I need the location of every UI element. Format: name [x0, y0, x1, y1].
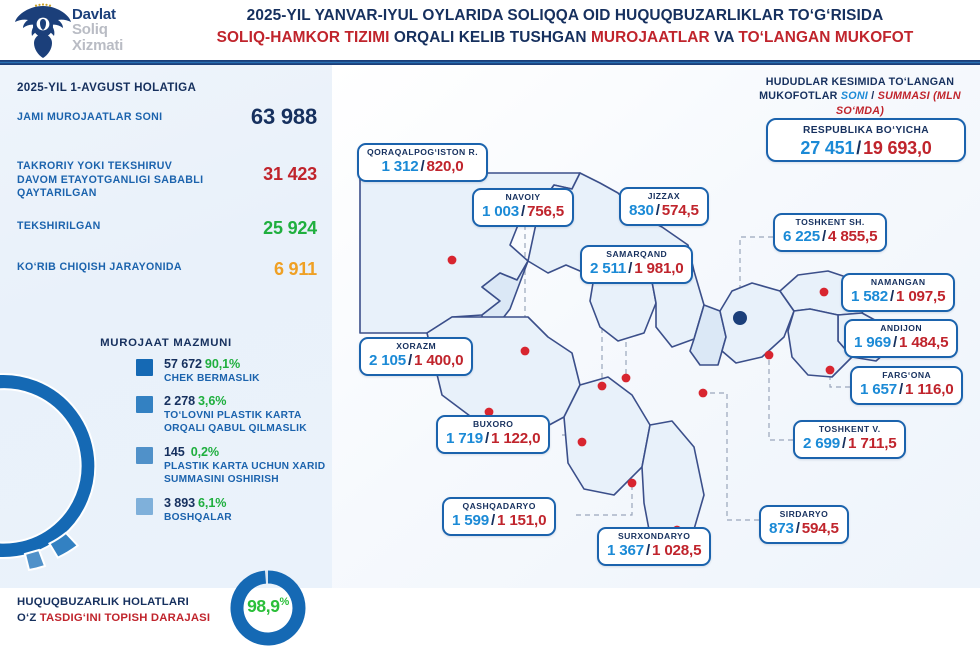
- breakdown-legend: 57 67290,1% CHEK BERMASLIK 2 2783,6% TO‘…: [136, 357, 332, 534]
- dot-qoraqalpogiston: [448, 256, 457, 265]
- stat-row-inprogress: KO‘RIB CHIQISH JARAYONIDA 6 911: [17, 261, 317, 275]
- confirm-seg-oz: O‘Z: [17, 612, 40, 624]
- legend-nums-3: 3 8936,1%: [164, 496, 332, 510]
- callout-andijon[interactable]: ANDIJON 1 969/1 484,5: [844, 319, 958, 358]
- callout-count-qoraqalpogiston: 1 312: [381, 158, 418, 175]
- title-tolangan-mukofot: TO‘LANGAN MUKOFOT: [738, 29, 913, 46]
- dot-fargona: [826, 366, 835, 375]
- stat-row-total: JAMI MUROJAATLAR SONI 63 988: [17, 111, 317, 125]
- callout-name-xorazm: XORAZM: [369, 342, 463, 352]
- donut-slice-chek-bermaslik: [0, 365, 104, 567]
- legend-pct-2: 0,2%: [191, 445, 219, 459]
- callout-count-samarqand: 2 511: [590, 260, 626, 277]
- callout-count-andijon: 1 969: [854, 334, 891, 351]
- callout-count-jizzax: 830: [629, 202, 654, 219]
- stat-value-inprogress: 6 911: [274, 259, 317, 280]
- callout-count-qashqadaryo: 1 599: [452, 512, 489, 529]
- sep-11: /: [491, 512, 495, 529]
- callout-values-namangan: 1 582/1 097,5: [851, 288, 945, 306]
- murojaat-mazmuni-donut: [0, 351, 118, 581]
- title-seg-d: VA: [710, 29, 739, 46]
- dot-sirdaryo: [699, 389, 708, 398]
- callout-values-andijon: 1 969/1 484,5: [854, 334, 948, 352]
- donut-slice-xarid-oshirish: [25, 550, 45, 570]
- sep-8: /: [408, 352, 412, 369]
- dot-toshkent-viloyati: [765, 351, 774, 360]
- gauge-number: 98,9: [247, 596, 279, 616]
- breakdown-title: MUROJAAT MAZMUNI: [0, 337, 332, 349]
- sep-12: /: [646, 542, 650, 559]
- logo-line-1: Davlat: [72, 7, 123, 22]
- confirmation-rate-label: HUQUQBUZARLIK HOLATLARI O‘Z TASDIG‘INI T…: [17, 594, 222, 626]
- callout-sum-samarqand: 1 981,0: [634, 260, 683, 277]
- callout-values-qoraqalpogiston: 1 312/820,0: [367, 158, 478, 176]
- sep-3: /: [628, 260, 632, 277]
- legend-pct-1: 3,6%: [198, 394, 226, 408]
- callout-name-namangan: NAMANGAN: [851, 278, 945, 288]
- callout-jizzax[interactable]: JIZZAX 830/574,5: [619, 187, 709, 226]
- callout-xorazm[interactable]: XORAZM 2 105/1 400,0: [359, 337, 473, 376]
- stat-label-total: JAMI MUROJAATLAR SONI: [17, 111, 209, 125]
- callout-sum-toshkent-viloyati: 1 711,5: [848, 435, 896, 452]
- legend-nums-1: 2 2783,6%: [164, 394, 332, 408]
- callout-count-buxoro: 1 719: [446, 430, 483, 447]
- legend-item-3: 3 8936,1% BOSHQALAR: [136, 496, 332, 524]
- callout-count-fargona: 1 657: [860, 381, 897, 398]
- title-seg-b: ORQALI KELIB TUSHGAN: [390, 29, 591, 46]
- callout-count-surxondaryo: 1 367: [607, 542, 644, 559]
- callout-sum-buxoro: 1 122,0: [491, 430, 540, 447]
- callout-count-xorazm: 2 105: [369, 352, 406, 369]
- logo-line-2: Soliq: [72, 22, 123, 37]
- dot-navoiy: [521, 347, 530, 356]
- map-panel: HUDUDLAR KESIMIDA TO‘LANGAN MUKOFOTLAR S…: [332, 65, 980, 588]
- title-line-2: SOLIQ-HAMKOR TIZIMI ORQALI KELIB TUSHGAN…: [160, 27, 970, 49]
- legend-nums-0: 57 67290,1%: [164, 357, 332, 371]
- logo: Davlat Soliq Xizmati: [8, 2, 158, 60]
- callout-values-jizzax: 830/574,5: [629, 202, 699, 220]
- dot-buxoro: [578, 438, 587, 447]
- legend-pct-0: 90,1%: [205, 357, 240, 371]
- callout-name-buxoro: BUXORO: [446, 420, 540, 430]
- page-title: 2025-YIL YANVAR-IYUL OYLARIDA SOLIQQA OI…: [160, 5, 970, 50]
- legend-desc-2: PLASTIK KARTA UCHUN XARID SUMMASINI OSHI…: [164, 461, 332, 486]
- callout-sum-xorazm: 1 400,0: [414, 352, 463, 369]
- callout-values-samarqand: 2 511/1 981,0: [590, 260, 683, 278]
- callout-values-buxoro: 1 719/1 122,0: [446, 430, 540, 448]
- callout-values-fargona: 1 657/1 116,0: [860, 381, 953, 399]
- callout-sum-qoraqalpogiston: 820,0: [427, 158, 464, 175]
- callout-name-jizzax: JIZZAX: [629, 192, 699, 202]
- logo-text: Davlat Soliq Xizmati: [72, 7, 123, 53]
- stat-row-returned: TAKRORIY YOKI TEKSHIRUV DAVOM ETAYOTGANL…: [17, 160, 317, 201]
- confirmation-rate-line2: O‘Z TASDIG‘INI TOPISH DARAJASI: [17, 610, 222, 626]
- legend-item-2: 1450,2% PLASTIK KARTA UCHUN XARID SUMMAS…: [136, 445, 332, 486]
- callout-name-navoiy: NAVOIY: [482, 193, 564, 203]
- callout-count-namangan: 1 582: [851, 288, 888, 305]
- callout-samarqand[interactable]: SAMARQAND 2 511/1 981,0: [580, 245, 693, 284]
- callout-name-toshkent-shahri: TOSHKENT SH.: [783, 218, 877, 228]
- legend-item-1: 2 2783,6% TO‘LOVNI PLASTIK KARTA ORQALI …: [136, 394, 332, 435]
- legend-pct-3: 6,1%: [198, 496, 226, 510]
- callout-count-toshkent-viloyati: 2 699: [803, 435, 840, 452]
- legend-desc-0: CHEK BERMASLIK: [164, 373, 332, 385]
- callout-count-toshkent-shahri: 6 225: [783, 228, 820, 245]
- legend-desc-1: TO‘LOVNI PLASTIK KARTA ORQALI QABUL QILM…: [164, 410, 332, 435]
- legend-swatch-1: [136, 396, 153, 413]
- callout-sum-surxondaryo: 1 028,5: [652, 542, 701, 559]
- callout-values-sirdaryo: 873/594,5: [769, 520, 839, 538]
- callout-sum-navoiy: 756,5: [527, 203, 564, 220]
- callout-name-samarqand: SAMARQAND: [590, 250, 683, 260]
- callout-name-fargona: FARG‘ONA: [860, 371, 953, 381]
- callout-sum-fargona: 1 116,0: [905, 381, 953, 398]
- callout-values-surxondaryo: 1 367/1 028,5: [607, 542, 701, 560]
- callout-surxondaryo[interactable]: SURXONDARYO 1 367/1 028,5: [597, 527, 711, 566]
- sep-7: /: [899, 381, 903, 398]
- sep-6: /: [893, 334, 897, 351]
- page-header: Davlat Soliq Xizmati 2025-YIL YANVAR-IYU…: [0, 0, 980, 62]
- callout-sum-toshkent-shahri: 4 855,5: [828, 228, 877, 245]
- legend-swatch-2: [136, 447, 153, 464]
- logo-line-3: Xizmati: [72, 38, 123, 53]
- stat-row-checked: TEKSHIRILGAN 25 924: [17, 220, 317, 234]
- gauge-percent-sign: %: [280, 596, 289, 608]
- sep-9: /: [485, 430, 489, 447]
- legend-count-1: 2 278: [164, 394, 195, 408]
- callout-name-toshkent-viloyati: TOSHKENT V.: [803, 425, 896, 435]
- callout-name-surxondaryo: SURXONDARYO: [607, 532, 701, 542]
- callout-values-toshkent-viloyati: 2 699/1 711,5: [803, 435, 896, 453]
- callout-count-navoiy: 1 003: [482, 203, 519, 220]
- confirm-seg-red: TASDIG‘INI TOPISH DARAJASI: [40, 612, 211, 624]
- stat-label-inprogress: KO‘RIB CHIQISH JARAYONIDA: [17, 261, 209, 275]
- callout-namangan[interactable]: NAMANGAN 1 582/1 097,5: [841, 273, 955, 312]
- callout-sum-jizzax: 574,5: [662, 202, 699, 219]
- callout-sum-namangan: 1 097,5: [896, 288, 945, 305]
- callout-name-sirdaryo: SIRDARYO: [769, 510, 839, 520]
- dot-samarqand: [598, 382, 607, 391]
- infographic-root: Davlat Soliq Xizmati 2025-YIL YANVAR-IYU…: [0, 0, 980, 588]
- stat-label-returned: TAKRORIY YOKI TEKSHIRUV DAVOM ETAYOTGANL…: [17, 160, 209, 201]
- legend-swatch-0: [136, 359, 153, 376]
- dot-toshkent-capital: [733, 311, 747, 325]
- legend-swatch-3: [136, 498, 153, 515]
- callout-buxoro[interactable]: BUXORO 1 719/1 122,0: [436, 415, 550, 454]
- eagle-emblem-icon: [14, 3, 72, 59]
- callout-count-sirdaryo: 873: [769, 520, 794, 537]
- callout-values-toshkent-shahri: 6 225/4 855,5: [783, 228, 877, 246]
- callout-navoiy[interactable]: NAVOIY 1 003/756,5: [472, 188, 574, 227]
- callout-sum-andijon: 1 484,5: [899, 334, 948, 351]
- legend-count-3: 3 893: [164, 496, 195, 510]
- stat-value-checked: 25 924: [263, 218, 317, 239]
- title-line-1: 2025-YIL YANVAR-IYUL OYLARIDA SOLIQQA OI…: [160, 5, 970, 27]
- callout-toshkent-viloyati[interactable]: TOSHKENT V. 2 699/1 711,5: [793, 420, 906, 459]
- callout-sum-qashqadaryo: 1 151,0: [497, 512, 546, 529]
- gauge-value: 98,9%: [225, 596, 311, 617]
- legend-count-2: 145: [164, 445, 185, 459]
- sep-13: /: [796, 520, 800, 537]
- legend-count-0: 57 672: [164, 357, 202, 371]
- as-of-date: 2025-YIL 1-AVGUST HOLATIGA: [17, 81, 196, 94]
- sep-5: /: [890, 288, 894, 305]
- confirmation-rate-line1: HUQUQBUZARLIK HOLATLARI: [17, 594, 222, 610]
- legend-item-0: 57 67290,1% CHEK BERMASLIK: [136, 357, 332, 385]
- callout-values-navoiy: 1 003/756,5: [482, 203, 564, 221]
- sep-0: /: [421, 158, 425, 175]
- callout-fargona[interactable]: FARG‘ONA 1 657/1 116,0: [850, 366, 963, 405]
- dot-namangan: [820, 288, 829, 297]
- left-stats-panel: 2025-YIL 1-AVGUST HOLATIGA JAMI MUROJAAT…: [0, 65, 332, 588]
- stat-value-total: 63 988: [251, 104, 317, 130]
- legend-desc-3: BOSHQALAR: [164, 512, 332, 524]
- callout-qoraqalpogiston[interactable]: QORAQALPOG‘ISTON R. 1 312/820,0: [357, 143, 488, 182]
- sep-2: /: [656, 202, 660, 219]
- dot-qashqadaryo: [628, 479, 637, 488]
- callout-sum-sirdaryo: 594,5: [802, 520, 839, 537]
- callout-toshkent-shahri[interactable]: TOSHKENT SH. 6 225/4 855,5: [773, 213, 887, 252]
- callout-name-qoraqalpogiston: QORAQALPOG‘ISTON R.: [367, 148, 478, 158]
- callout-sirdaryo[interactable]: SIRDARYO 873/594,5: [759, 505, 849, 544]
- title-murojaatlar: MUROJAATLAR: [591, 29, 710, 46]
- callout-values-xorazm: 2 105/1 400,0: [369, 352, 463, 370]
- callout-name-andijon: ANDIJON: [854, 324, 948, 334]
- stat-label-checked: TEKSHIRILGAN: [17, 220, 209, 234]
- callout-qashqadaryo[interactable]: QASHQADARYO 1 599/1 151,0: [442, 497, 556, 536]
- sep-10: /: [842, 435, 846, 452]
- callout-name-qashqadaryo: QASHQADARYO: [452, 502, 546, 512]
- sep-4: /: [822, 228, 826, 245]
- stat-value-returned: 31 423: [263, 164, 317, 185]
- dot-jizzax: [622, 374, 631, 383]
- sep-1: /: [521, 203, 525, 220]
- legend-nums-2: 1450,2%: [164, 445, 332, 459]
- callout-values-qashqadaryo: 1 599/1 151,0: [452, 512, 546, 530]
- title-soliq-hamkor: SOLIQ-HAMKOR TIZIMI: [217, 29, 390, 46]
